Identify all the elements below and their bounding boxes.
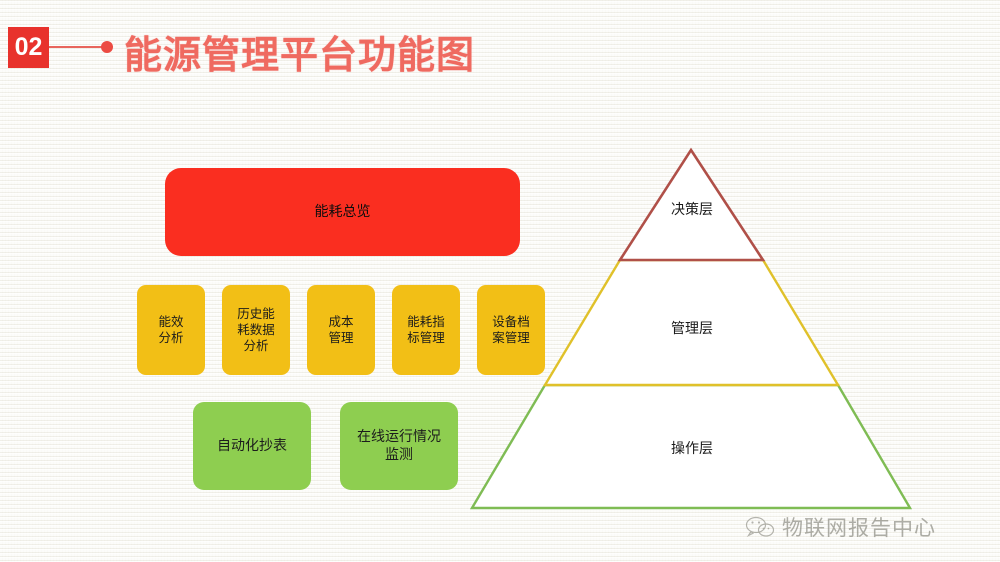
function-box-history-data[interactable]: 历史能 耗数据 分析 bbox=[222, 285, 290, 375]
pyramid-label-operational: 操作层 bbox=[671, 438, 713, 458]
section-number-badge: 02 bbox=[8, 27, 49, 68]
slide-canvas: 02 能源管理平台功能图 能耗总览 能效 分析 历史能 耗数据 分析 成本 管理… bbox=[0, 0, 1000, 562]
badge-connector-line bbox=[49, 46, 105, 48]
watermark: 物联网报告中心 bbox=[745, 512, 936, 542]
function-box-cost-management[interactable]: 成本 管理 bbox=[307, 285, 375, 375]
page-title: 能源管理平台功能图 bbox=[124, 24, 475, 79]
function-box-device-archive[interactable]: 设备档 案管理 bbox=[477, 285, 545, 375]
pyramid-diagram bbox=[0, 0, 1000, 562]
watermark-text: 物联网报告中心 bbox=[782, 512, 936, 542]
function-box-overview[interactable]: 能耗总览 bbox=[165, 168, 520, 256]
pyramid-label-decision: 决策层 bbox=[671, 199, 713, 219]
function-box-auto-meter-reading[interactable]: 自动化抄表 bbox=[193, 402, 311, 490]
function-box-energy-efficiency[interactable]: 能效 分析 bbox=[137, 285, 205, 375]
function-box-energy-index[interactable]: 能耗指 标管理 bbox=[392, 285, 460, 375]
badge-connector-dot bbox=[101, 41, 113, 53]
wechat-icon bbox=[745, 515, 775, 539]
function-box-online-monitoring[interactable]: 在线运行情况 监测 bbox=[340, 402, 458, 490]
pyramid-label-management: 管理层 bbox=[671, 318, 713, 338]
